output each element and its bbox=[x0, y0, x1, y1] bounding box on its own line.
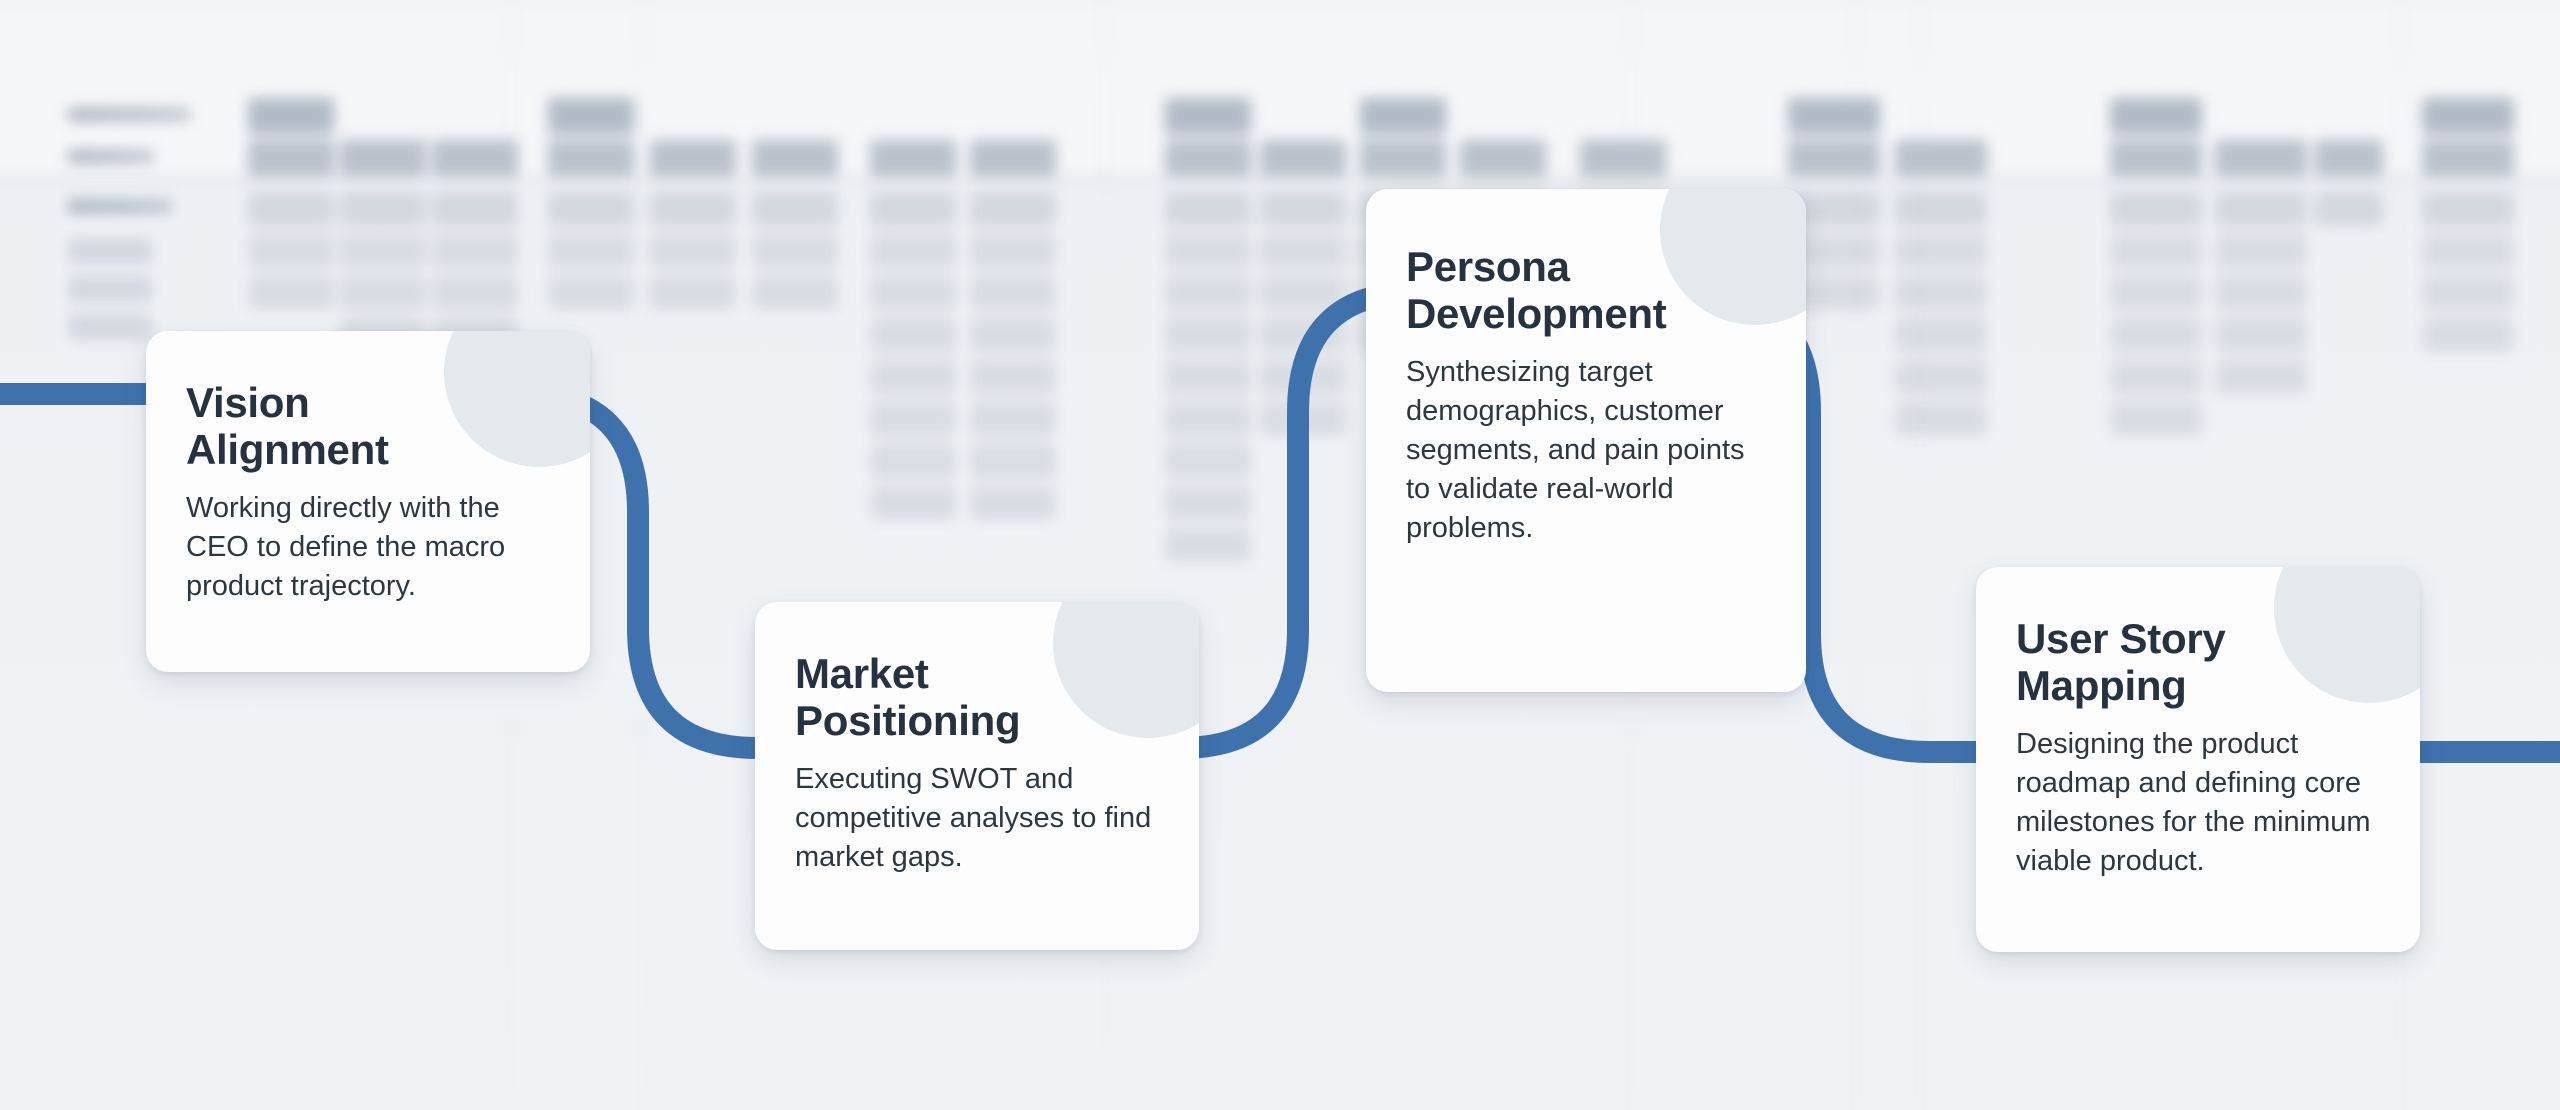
story-note bbox=[432, 276, 518, 310]
activity-note bbox=[1360, 98, 1446, 134]
activity-note bbox=[2422, 98, 2514, 134]
task-note bbox=[870, 140, 956, 176]
story-note bbox=[870, 192, 956, 226]
card-title: VisionAlignment bbox=[186, 379, 550, 473]
story-note bbox=[650, 234, 736, 268]
activity-note bbox=[1165, 98, 1251, 134]
flow-step-card-market-positioning[interactable]: MarketPositioning Executing SWOT and com… bbox=[755, 602, 1199, 950]
story-note bbox=[548, 192, 634, 226]
card-title: MarketPositioning bbox=[795, 650, 1159, 744]
activity-note bbox=[1788, 98, 1880, 134]
story-note bbox=[650, 192, 736, 226]
story-note bbox=[752, 192, 838, 226]
task-note bbox=[248, 140, 334, 176]
story-note bbox=[432, 192, 518, 226]
task-note bbox=[1580, 140, 1666, 176]
story-note bbox=[2422, 192, 2514, 226]
task-note bbox=[1360, 140, 1446, 176]
story-note bbox=[1165, 318, 1251, 352]
story-note bbox=[2422, 276, 2514, 310]
row-label-user-activities bbox=[68, 108, 190, 121]
story-note bbox=[2422, 318, 2514, 352]
task-note bbox=[2315, 140, 2383, 176]
story-note bbox=[1895, 360, 1987, 394]
story-note bbox=[2215, 318, 2307, 352]
story-note bbox=[870, 402, 956, 436]
story-note bbox=[248, 192, 334, 226]
task-note bbox=[1165, 140, 1251, 176]
story-note bbox=[1165, 234, 1251, 268]
row-label-user-tasks bbox=[68, 150, 154, 163]
story-note bbox=[870, 486, 956, 520]
task-note bbox=[2422, 140, 2514, 176]
story-note bbox=[340, 234, 426, 268]
story-note bbox=[970, 360, 1056, 394]
story-note bbox=[68, 276, 152, 302]
story-note bbox=[1165, 528, 1251, 562]
story-note bbox=[68, 314, 152, 340]
story-note bbox=[2215, 192, 2307, 226]
story-note bbox=[1165, 360, 1251, 394]
story-note bbox=[2110, 402, 2202, 436]
story-note bbox=[2315, 192, 2383, 226]
story-note bbox=[340, 192, 426, 226]
story-note bbox=[870, 234, 956, 268]
story-note bbox=[1260, 276, 1346, 310]
story-note bbox=[970, 444, 1056, 478]
task-note bbox=[2110, 140, 2202, 176]
story-note bbox=[970, 318, 1056, 352]
card-description: Designing the product roadmap and defini… bbox=[2016, 725, 2380, 880]
flow-step-card-user-story-mapping[interactable]: User StoryMapping Designing the product … bbox=[1976, 567, 2420, 952]
story-note bbox=[1895, 192, 1987, 226]
card-description: Working directly with the CEO to define … bbox=[186, 489, 550, 606]
story-note bbox=[1165, 444, 1251, 478]
lane-divider-tasks-stories bbox=[0, 178, 2560, 180]
card-description: Synthesizing target demographics, custom… bbox=[1406, 353, 1766, 547]
card-title: User StoryMapping bbox=[2016, 615, 2380, 709]
story-note bbox=[1895, 402, 1987, 436]
story-note bbox=[970, 402, 1056, 436]
story-note bbox=[1260, 192, 1346, 226]
task-note bbox=[1260, 140, 1346, 176]
task-note bbox=[1460, 140, 1546, 176]
story-note bbox=[1165, 192, 1251, 226]
grid-line-v bbox=[642, 0, 643, 1110]
story-note bbox=[752, 234, 838, 268]
story-note bbox=[870, 444, 956, 478]
story-note bbox=[68, 238, 152, 264]
task-note bbox=[548, 140, 634, 176]
task-note bbox=[340, 140, 426, 176]
story-note bbox=[650, 276, 736, 310]
story-note bbox=[1165, 276, 1251, 310]
task-note bbox=[970, 140, 1056, 176]
story-note bbox=[340, 276, 426, 310]
row-label-user-stories bbox=[68, 200, 172, 213]
story-note bbox=[1260, 402, 1346, 436]
story-note bbox=[1895, 318, 1987, 352]
story-note bbox=[1895, 276, 1987, 310]
task-note bbox=[1788, 140, 1880, 176]
story-note bbox=[2110, 318, 2202, 352]
activity-note bbox=[2110, 98, 2202, 134]
story-note bbox=[2110, 360, 2202, 394]
story-note bbox=[970, 234, 1056, 268]
story-note bbox=[248, 234, 334, 268]
story-note bbox=[432, 234, 518, 268]
story-note bbox=[2215, 276, 2307, 310]
story-note bbox=[2215, 234, 2307, 268]
story-note bbox=[1165, 402, 1251, 436]
story-note bbox=[970, 192, 1056, 226]
task-note bbox=[752, 140, 838, 176]
flow-step-card-vision-alignment[interactable]: VisionAlignment Working directly with th… bbox=[146, 331, 590, 672]
card-title: PersonaDevelopment bbox=[1406, 243, 1766, 337]
story-note bbox=[2110, 192, 2202, 226]
story-note bbox=[548, 276, 634, 310]
story-note bbox=[870, 276, 956, 310]
activity-note bbox=[248, 98, 334, 134]
card-description: Executing SWOT and competitive analyses … bbox=[795, 760, 1159, 877]
story-note bbox=[970, 276, 1056, 310]
story-note bbox=[2110, 276, 2202, 310]
story-note bbox=[1260, 360, 1346, 394]
story-note bbox=[1165, 486, 1251, 520]
story-note bbox=[2422, 234, 2514, 268]
task-note bbox=[432, 140, 518, 176]
task-note bbox=[1895, 140, 1987, 176]
story-note bbox=[752, 276, 838, 310]
task-note bbox=[2215, 140, 2307, 176]
story-note bbox=[1895, 234, 1987, 268]
story-note bbox=[2110, 234, 2202, 268]
story-note bbox=[870, 318, 956, 352]
story-note bbox=[248, 276, 334, 310]
task-note bbox=[650, 140, 736, 176]
activity-note bbox=[548, 98, 634, 134]
story-note bbox=[548, 234, 634, 268]
story-note bbox=[2215, 360, 2307, 394]
story-note bbox=[870, 360, 956, 394]
infographic-canvas: VisionAlignment Working directly with th… bbox=[0, 0, 2560, 1110]
story-note bbox=[1260, 234, 1346, 268]
story-note bbox=[1260, 318, 1346, 352]
flow-step-card-persona-development[interactable]: PersonaDevelopment Synthesizing target d… bbox=[1366, 189, 1806, 692]
story-note bbox=[970, 486, 1056, 520]
